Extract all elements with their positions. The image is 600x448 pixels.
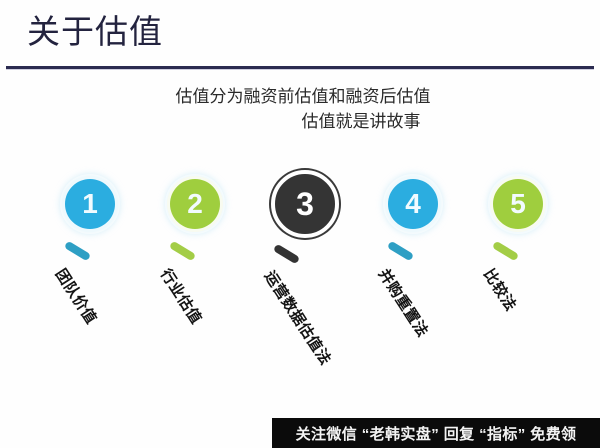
step-label-5: 比较法: [479, 266, 519, 315]
step-circle-5[interactable]: 5: [490, 176, 546, 232]
step-number-3: 3: [296, 186, 314, 223]
step-number-4: 4: [405, 188, 421, 220]
step-number-5: 5: [510, 188, 526, 220]
step-circle-4[interactable]: 4: [385, 176, 441, 232]
step-dash-2: [169, 241, 196, 262]
promo-banner: 关注微信 “老韩实盘” 回复 “指标” 免费领: [272, 418, 600, 448]
step-dash-1: [64, 241, 91, 262]
step-label-1: 团队价值: [51, 266, 100, 328]
slide-canvas: 关于估值 估值分为融资前估值和融资后估值 估值就是讲故事 1 团队价值 2 行业…: [0, 0, 600, 448]
step-label-3: 运营数据估值法: [260, 268, 334, 369]
promo-banner-text: 关注微信 “老韩实盘” 回复 “指标” 免费领: [296, 423, 577, 444]
step-dash-4: [387, 241, 414, 262]
step-sequence: 1 团队价值 2 行业估值 3 运营数据估值法 4 并: [0, 0, 600, 448]
step-number-2: 2: [187, 188, 203, 220]
step-circle-2[interactable]: 2: [167, 176, 223, 232]
step-label-4: 并购重置法: [374, 266, 431, 341]
step-label-2: 行业估值: [156, 266, 205, 328]
step-dash-3: [273, 244, 300, 265]
step-circle-3[interactable]: 3: [271, 170, 339, 238]
step-circle-1[interactable]: 1: [62, 176, 118, 232]
step-dash-5: [492, 241, 519, 262]
step-number-1: 1: [82, 188, 98, 220]
